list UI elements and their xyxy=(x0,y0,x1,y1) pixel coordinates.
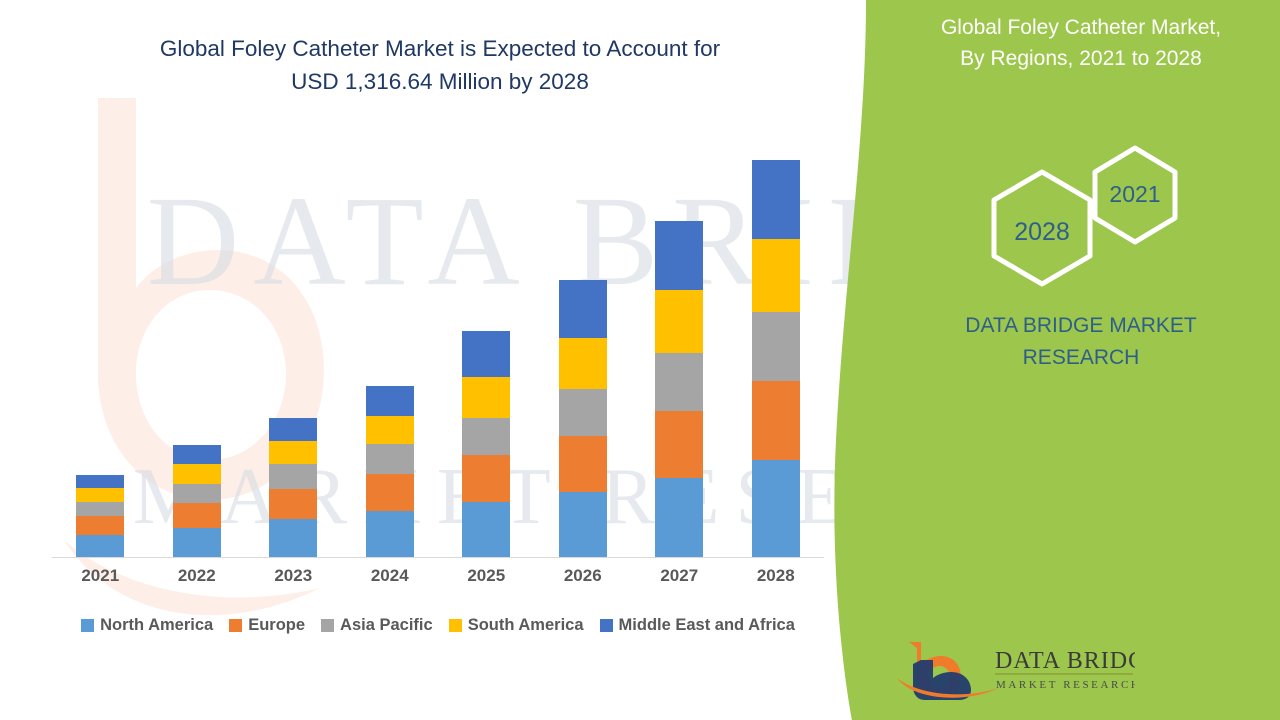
bar-segment[interactable] xyxy=(752,160,800,238)
legend-item[interactable]: Europe xyxy=(229,616,305,635)
bar-segment[interactable] xyxy=(752,381,800,460)
stacked-bar[interactable] xyxy=(366,386,414,557)
bar-column-2023 xyxy=(245,150,342,557)
bar-segment[interactable] xyxy=(655,353,703,411)
hexagon-group: 2021 2028 xyxy=(980,140,1190,290)
bar-segment[interactable] xyxy=(462,455,510,502)
bar-segment[interactable] xyxy=(269,418,317,441)
bar-segment[interactable] xyxy=(366,444,414,474)
x-axis-label-2027: 2027 xyxy=(631,566,728,586)
x-axis-line xyxy=(52,557,824,558)
bar-segment[interactable] xyxy=(655,411,703,478)
bar-column-2024 xyxy=(342,150,439,557)
legend-swatch-icon xyxy=(229,619,242,632)
legend-label: South America xyxy=(468,616,584,635)
legend-label: North America xyxy=(100,616,213,635)
legend-label: Middle East and Africa xyxy=(619,616,795,635)
brand-name: DATA BRIDGE MARKET RESEARCH xyxy=(890,310,1272,374)
bar-segment[interactable] xyxy=(269,441,317,464)
bar-segment[interactable] xyxy=(655,290,703,352)
stacked-bar[interactable] xyxy=(559,280,607,557)
bar-segment[interactable] xyxy=(269,519,317,557)
bar-segment[interactable] xyxy=(559,389,607,436)
bar-segment[interactable] xyxy=(559,338,607,389)
bar-segment[interactable] xyxy=(173,484,221,503)
legend-swatch-icon xyxy=(81,619,94,632)
hexagon-2021-label: 2021 xyxy=(1109,181,1160,207)
bar-segment[interactable] xyxy=(655,478,703,557)
page-title-line-2: USD 1,316.64 Million by 2028 xyxy=(40,65,840,98)
bar-segment[interactable] xyxy=(173,528,221,558)
panel-title-line-1: Global Foley Catheter Market, xyxy=(890,12,1272,43)
bar-group xyxy=(52,150,824,557)
bar-segment[interactable] xyxy=(462,418,510,456)
bar-segment[interactable] xyxy=(462,331,510,377)
x-axis-label-2024: 2024 xyxy=(342,566,439,586)
stacked-bar[interactable] xyxy=(269,418,317,557)
bar-column-2022 xyxy=(149,150,246,557)
hexagon-2028-label: 2028 xyxy=(1014,218,1070,246)
brand-name-line-1: DATA BRIDGE MARKET xyxy=(890,310,1272,342)
bar-segment[interactable] xyxy=(559,492,607,557)
bar-segment[interactable] xyxy=(269,464,317,488)
panel-title-line-2: By Regions, 2021 to 2028 xyxy=(890,43,1272,74)
bar-segment[interactable] xyxy=(76,535,124,557)
bar-segment[interactable] xyxy=(559,280,607,338)
x-axis-label-2028: 2028 xyxy=(728,566,825,586)
x-axis-tick-labels: 20212022202320242025202620272028 xyxy=(52,566,824,586)
bar-segment[interactable] xyxy=(752,239,800,312)
bar-segment[interactable] xyxy=(752,312,800,381)
stacked-bar[interactable] xyxy=(462,331,510,557)
bar-segment[interactable] xyxy=(752,460,800,557)
bar-segment[interactable] xyxy=(76,475,124,488)
x-axis-label-2021: 2021 xyxy=(52,566,149,586)
page-title: Global Foley Catheter Market is Expected… xyxy=(40,32,840,98)
bar-segment[interactable] xyxy=(76,488,124,502)
x-axis-label-2025: 2025 xyxy=(438,566,535,586)
x-axis-label-2026: 2026 xyxy=(535,566,632,586)
bar-segment[interactable] xyxy=(76,502,124,516)
legend-item[interactable]: Middle East and Africa xyxy=(600,616,795,635)
stacked-bar[interactable] xyxy=(173,445,221,557)
bar-segment[interactable] xyxy=(173,445,221,464)
bar-segment[interactable] xyxy=(366,416,414,444)
bar-segment[interactable] xyxy=(76,516,124,534)
bar-column-2021 xyxy=(52,150,149,557)
databridge-logo-icon: DATA BRIDGE MARKET RESEARCH xyxy=(895,638,1135,700)
x-axis-label-2022: 2022 xyxy=(149,566,246,586)
databridge-logo: DATA BRIDGE MARKET RESEARCH xyxy=(895,638,1135,700)
legend-label: Europe xyxy=(248,616,305,635)
bar-segment[interactable] xyxy=(462,502,510,557)
logo-text-line-2: MARKET RESEARCH xyxy=(996,679,1135,691)
bar-column-2028 xyxy=(728,150,825,557)
legend-label: Asia Pacific xyxy=(340,616,433,635)
bar-column-2026 xyxy=(535,150,632,557)
right-panel: Global Foley Catheter Market, By Regions… xyxy=(880,0,1280,720)
bar-column-2025 xyxy=(438,150,535,557)
bar-segment[interactable] xyxy=(655,221,703,290)
legend-item[interactable]: Asia Pacific xyxy=(321,616,433,635)
page-title-line-1: Global Foley Catheter Market is Expected… xyxy=(40,32,840,65)
stacked-bar[interactable] xyxy=(655,221,703,557)
legend-swatch-icon xyxy=(449,619,462,632)
bar-segment[interactable] xyxy=(559,436,607,492)
chart-plot-area xyxy=(52,150,824,558)
bar-column-2027 xyxy=(631,150,728,557)
legend-item[interactable]: South America xyxy=(449,616,584,635)
stacked-bar[interactable] xyxy=(752,160,800,557)
x-axis-label-2023: 2023 xyxy=(245,566,342,586)
bar-segment[interactable] xyxy=(366,386,414,416)
panel-title: Global Foley Catheter Market, By Regions… xyxy=(890,12,1272,74)
infographic-root: DATA BRIDGE MARKET RESEARCH Global Foley… xyxy=(0,0,1280,720)
bar-segment[interactable] xyxy=(173,503,221,527)
legend-item[interactable]: North America xyxy=(81,616,213,635)
stacked-bar[interactable] xyxy=(76,475,124,557)
legend-swatch-icon xyxy=(600,619,613,632)
bar-segment[interactable] xyxy=(366,474,414,512)
bar-segment[interactable] xyxy=(269,489,317,520)
bar-segment[interactable] xyxy=(366,511,414,557)
chart-legend: North AmericaEuropeAsia PacificSouth Ame… xyxy=(52,616,824,635)
hexagons-icon: 2021 2028 xyxy=(980,140,1190,290)
logo-text-line-1: DATA BRIDGE xyxy=(995,648,1135,674)
bar-segment[interactable] xyxy=(462,377,510,418)
brand-name-line-2: RESEARCH xyxy=(890,342,1272,374)
legend-swatch-icon xyxy=(321,619,334,632)
bar-segment[interactable] xyxy=(173,464,221,483)
